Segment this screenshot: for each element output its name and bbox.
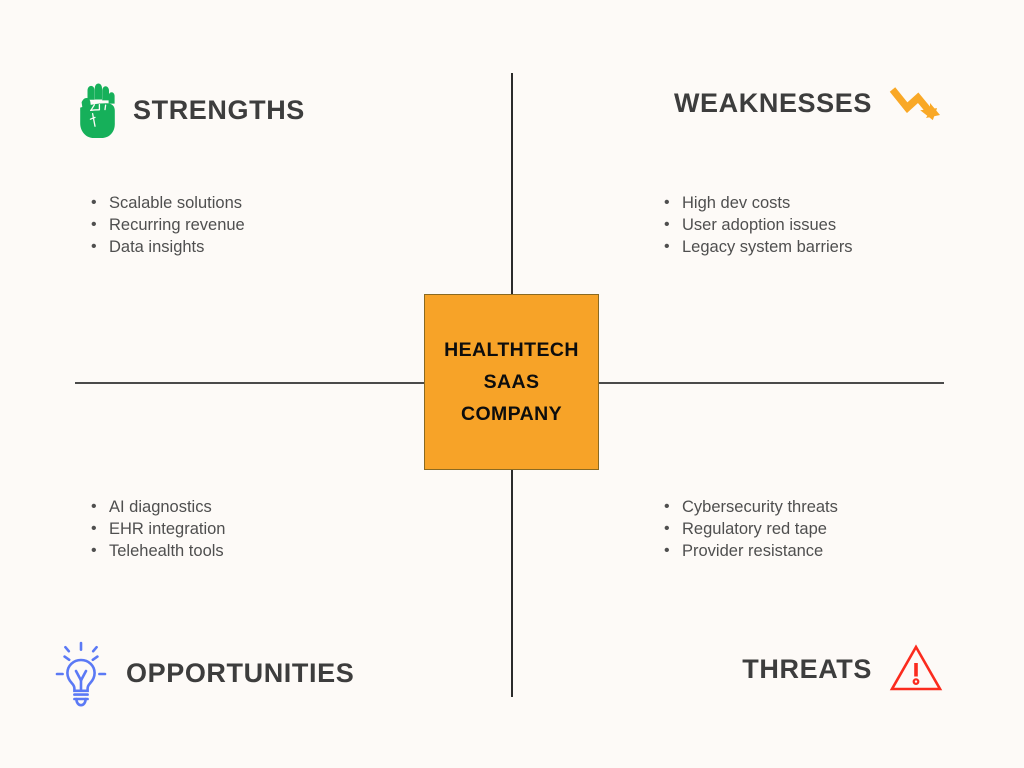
quadrant-header-threats: THREATS: [742, 641, 944, 697]
center-line-3: COMPANY: [461, 398, 562, 430]
quadrant-header-strengths: STRENGTHS: [73, 80, 305, 140]
list-item: Scalable solutions: [109, 192, 245, 214]
lightbulb-icon: [52, 638, 110, 708]
quadrant-title: OPPORTUNITIES: [126, 658, 354, 689]
list-item: Data insights: [109, 236, 245, 258]
list-item: AI diagnostics: [109, 496, 225, 518]
raised-fist-icon: [73, 80, 117, 140]
list-item: Provider resistance: [682, 540, 838, 562]
weaknesses-list: High dev costs User adoption issues Lega…: [660, 192, 853, 258]
center-line-2: SAAS: [484, 366, 540, 398]
quadrant-title: THREATS: [742, 654, 872, 685]
swot-diagram: STRENGTHS Scalable solutions Recurring r…: [0, 0, 1024, 768]
list-item: High dev costs: [682, 192, 853, 214]
list-item: EHR integration: [109, 518, 225, 540]
threats-list: Cybersecurity threats Regulatory red tap…: [660, 496, 838, 562]
list-item: Recurring revenue: [109, 214, 245, 236]
quadrant-header-opportunities: OPPORTUNITIES: [52, 638, 354, 708]
strengths-list: Scalable solutions Recurring revenue Dat…: [87, 192, 245, 258]
quadrant-header-weaknesses: WEAKNESSES: [674, 80, 944, 126]
center-subject-box: HEALTHTECH SAAS COMPANY: [424, 294, 599, 470]
downward-trend-arrow-icon: [888, 80, 944, 126]
quadrant-title: STRENGTHS: [133, 95, 305, 126]
warning-triangle-icon: [888, 641, 944, 697]
list-item: Legacy system barriers: [682, 236, 853, 258]
quadrant-title: WEAKNESSES: [674, 88, 872, 119]
list-item: User adoption issues: [682, 214, 853, 236]
list-item: Cybersecurity threats: [682, 496, 838, 518]
list-item: Regulatory red tape: [682, 518, 838, 540]
center-line-1: HEALTHTECH: [444, 334, 579, 366]
opportunities-list: AI diagnostics EHR integration Telehealt…: [87, 496, 225, 562]
list-item: Telehealth tools: [109, 540, 225, 562]
